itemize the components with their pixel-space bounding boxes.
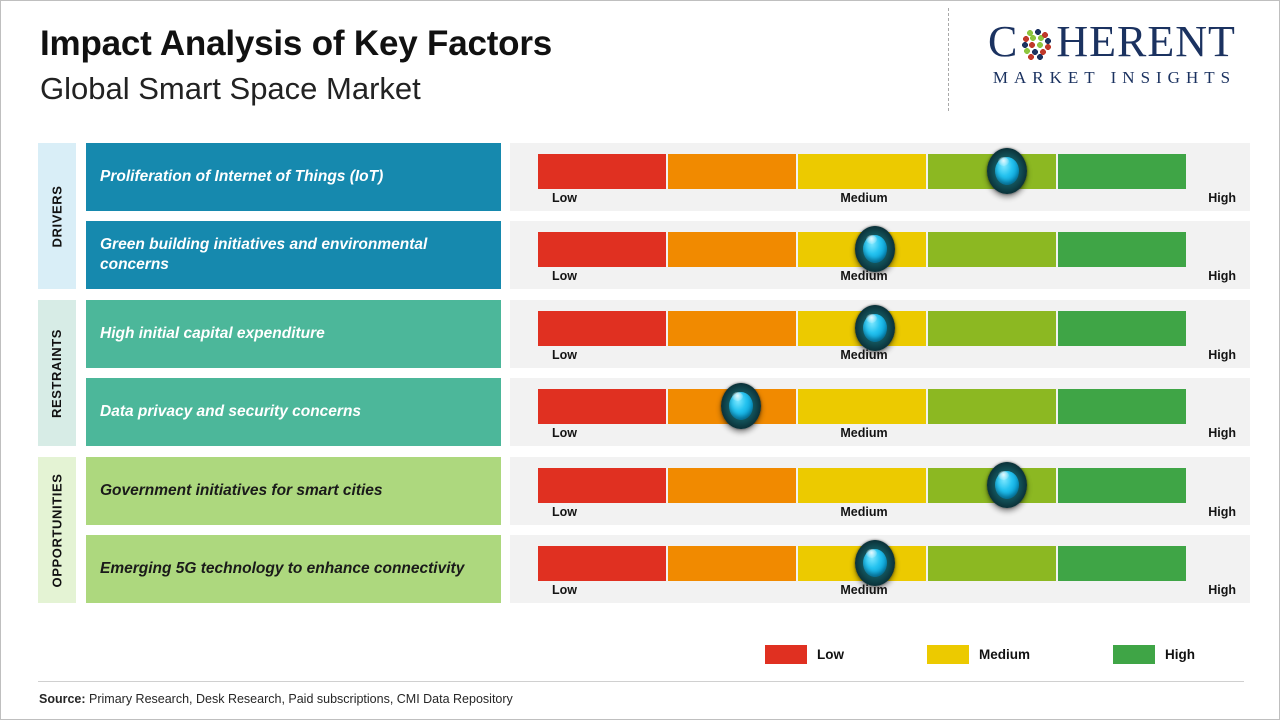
scale-segment-5 bbox=[1058, 311, 1186, 346]
logo-tagline: MARKET INSIGHTS bbox=[962, 68, 1262, 88]
scale-label-medium: Medium bbox=[840, 426, 887, 440]
header: Impact Analysis of Key Factors Global Sm… bbox=[40, 26, 680, 106]
scale-segment-2 bbox=[668, 311, 796, 346]
scale-segment-2 bbox=[668, 232, 796, 267]
scale-label-high: High bbox=[1208, 191, 1236, 205]
scale-label-high: High bbox=[1208, 269, 1236, 283]
scale-tick-labels: Low Medium High bbox=[538, 269, 1232, 287]
impact-gauge-row: Low Medium High bbox=[510, 300, 1250, 368]
impact-marker[interactable] bbox=[987, 462, 1027, 508]
factor-box: Government initiatives for smart cities bbox=[86, 457, 501, 525]
impact-marker[interactable] bbox=[855, 305, 895, 351]
source-text: Primary Research, Desk Research, Paid su… bbox=[86, 692, 513, 706]
category-label-text: DRIVERS bbox=[50, 185, 65, 247]
scale-segment-5 bbox=[1058, 154, 1186, 189]
scale-label-medium: Medium bbox=[840, 191, 887, 205]
scale-segment-5 bbox=[1058, 232, 1186, 267]
impact-gauge-row: Low Medium High bbox=[510, 535, 1250, 603]
scale-label-high: High bbox=[1208, 505, 1236, 519]
scale-label-medium: Medium bbox=[840, 348, 887, 362]
impact-marker[interactable] bbox=[855, 540, 895, 586]
scale-label-low: Low bbox=[552, 269, 577, 283]
scale-label-low: Low bbox=[552, 505, 577, 519]
category-label-text: OPPORTUNITIES bbox=[50, 473, 65, 587]
category-label-text: RESTRAINTS bbox=[50, 328, 65, 417]
legend-label: High bbox=[1165, 647, 1195, 662]
legend-label: Low bbox=[817, 647, 844, 662]
legend: Low Medium High bbox=[765, 645, 1225, 669]
factor-box: High initial capital expenditure bbox=[86, 300, 501, 368]
scale-segment-1 bbox=[538, 232, 666, 267]
scale-segment-3 bbox=[798, 154, 926, 189]
factor-box: Proliferation of Internet of Things (IoT… bbox=[86, 143, 501, 211]
scale-segment-4 bbox=[928, 389, 1056, 424]
footer-divider bbox=[38, 681, 1244, 682]
factor-label: Proliferation of Internet of Things (IoT… bbox=[100, 167, 383, 187]
legend-swatch-medium bbox=[927, 645, 969, 664]
scale-label-low: Low bbox=[552, 191, 577, 205]
scale-segment-3 bbox=[798, 389, 926, 424]
source-note: Source: Primary Research, Desk Research,… bbox=[39, 692, 513, 706]
scale-segment-2 bbox=[668, 154, 796, 189]
scale-segment-2 bbox=[668, 468, 796, 503]
company-logo: C HERENT MARKET INSIGHTS bbox=[962, 20, 1262, 88]
factor-box: Emerging 5G technology to enhance connec… bbox=[86, 535, 501, 603]
factor-box: Green building initiatives and environme… bbox=[86, 221, 501, 289]
logo-wordmark: C HERENT bbox=[962, 20, 1262, 64]
impact-scale-bar bbox=[538, 154, 1186, 189]
legend-item-high: High bbox=[1113, 645, 1195, 664]
scale-label-medium: Medium bbox=[840, 269, 887, 283]
scale-segment-3 bbox=[798, 468, 926, 503]
factor-label: High initial capital expenditure bbox=[100, 324, 325, 344]
category-label-restraints: RESTRAINTS bbox=[38, 300, 76, 446]
scale-segment-1 bbox=[538, 468, 666, 503]
scale-label-low: Low bbox=[552, 348, 577, 362]
scale-label-high: High bbox=[1208, 426, 1236, 440]
impact-marker[interactable] bbox=[987, 148, 1027, 194]
factor-label: Green building initiatives and environme… bbox=[100, 235, 487, 275]
page-title: Impact Analysis of Key Factors bbox=[40, 26, 680, 63]
scale-label-low: Low bbox=[552, 583, 577, 597]
scale-label-low: Low bbox=[552, 426, 577, 440]
legend-swatch-high bbox=[1113, 645, 1155, 664]
impact-marker[interactable] bbox=[855, 226, 895, 272]
factor-box: Data privacy and security concerns bbox=[86, 378, 501, 446]
source-label: Source: bbox=[39, 692, 86, 706]
logo-letters-herent: HERENT bbox=[1056, 20, 1236, 64]
scale-segment-1 bbox=[538, 546, 666, 581]
scale-segment-5 bbox=[1058, 468, 1186, 503]
legend-swatch-low bbox=[765, 645, 807, 664]
impact-marker[interactable] bbox=[721, 383, 761, 429]
impact-gauge-row: Low Medium High bbox=[510, 143, 1250, 211]
impact-gauge-row: Low Medium High bbox=[510, 378, 1250, 446]
scale-segment-1 bbox=[538, 154, 666, 189]
scale-tick-labels: Low Medium High bbox=[538, 426, 1232, 444]
logo-divider bbox=[948, 8, 949, 111]
legend-label: Medium bbox=[979, 647, 1030, 662]
impact-gauge-row: Low Medium High bbox=[510, 221, 1250, 289]
scale-label-medium: Medium bbox=[840, 505, 887, 519]
factor-label: Data privacy and security concerns bbox=[100, 402, 361, 422]
scale-label-high: High bbox=[1208, 583, 1236, 597]
scale-tick-labels: Low Medium High bbox=[538, 348, 1232, 366]
scale-segment-5 bbox=[1058, 389, 1186, 424]
scale-segment-4 bbox=[928, 311, 1056, 346]
scale-tick-labels: Low Medium High bbox=[538, 191, 1232, 209]
scale-segment-4 bbox=[928, 232, 1056, 267]
scale-label-medium: Medium bbox=[840, 583, 887, 597]
logo-letter-c: C bbox=[988, 20, 1018, 64]
category-label-drivers: DRIVERS bbox=[38, 143, 76, 289]
legend-item-low: Low bbox=[765, 645, 844, 664]
factor-label: Emerging 5G technology to enhance connec… bbox=[100, 559, 464, 579]
scale-segment-1 bbox=[538, 311, 666, 346]
scale-segment-4 bbox=[928, 546, 1056, 581]
page-subtitle: Global Smart Space Market bbox=[40, 71, 680, 107]
scale-segment-1 bbox=[538, 389, 666, 424]
scale-segment-2 bbox=[668, 546, 796, 581]
scale-tick-labels: Low Medium High bbox=[538, 505, 1232, 523]
scale-label-high: High bbox=[1208, 348, 1236, 362]
factor-label: Government initiatives for smart cities bbox=[100, 481, 383, 501]
legend-item-medium: Medium bbox=[927, 645, 1030, 664]
impact-gauge-row: Low Medium High bbox=[510, 457, 1250, 525]
scale-tick-labels: Low Medium High bbox=[538, 583, 1232, 601]
category-label-opportunities: OPPORTUNITIES bbox=[38, 457, 76, 603]
impact-scale-bar bbox=[538, 389, 1186, 424]
dotted-globe-icon bbox=[1019, 26, 1055, 62]
scale-segment-5 bbox=[1058, 546, 1186, 581]
impact-scale-bar bbox=[538, 468, 1186, 503]
